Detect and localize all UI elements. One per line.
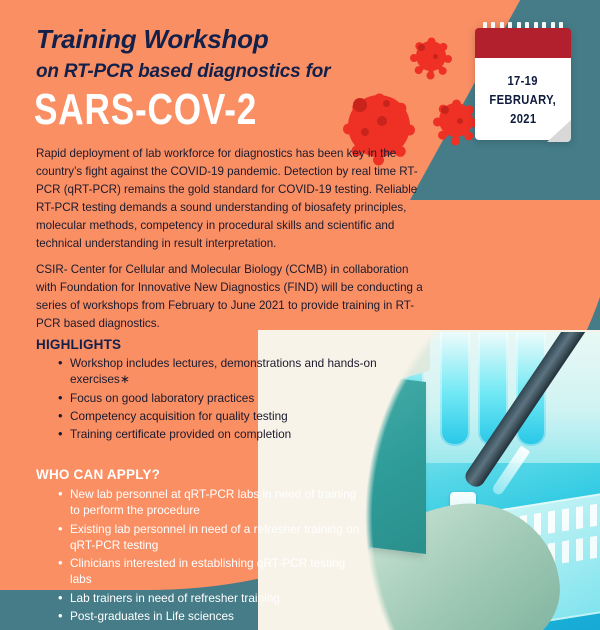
list-item: Competency acquisition for quality testi…: [70, 408, 400, 424]
list-item: Lab trainers in need of refresher traini…: [70, 590, 360, 606]
list-item: Clinicians interested in establishing qR…: [70, 555, 360, 588]
list-item: Post-graduates in Life sciences: [70, 608, 360, 624]
list-item: Workshop includes lectures, demonstratio…: [70, 355, 400, 388]
headline-secondary: on RT-PCR based diagnostics for: [36, 62, 456, 81]
list-item: Training certificate provided on complet…: [70, 426, 400, 442]
poster: SARS-COV-2 RT-qPCR kit: [0, 0, 600, 630]
calendar-body: 17-19 FEBRUARY, 2021: [475, 58, 571, 140]
calendar-dates: 17-19: [508, 73, 538, 88]
list-item: Existing lab personnel in need of a refr…: [70, 521, 360, 554]
calendar-month: FEBRUARY,: [490, 92, 557, 107]
who-can-apply-list: New lab personnel at qRT-PCR labs in nee…: [50, 486, 360, 626]
page-title: SARS-COV-2: [34, 88, 257, 132]
list-item: New lab personnel at qRT-PCR labs in nee…: [70, 486, 360, 519]
headline-primary: Training Workshop: [36, 26, 436, 52]
photo-test-tube: [440, 332, 470, 446]
intro-paragraph: Rapid deployment of lab workforce for di…: [36, 145, 426, 253]
who-can-apply-title: WHO CAN APPLY?: [36, 467, 160, 482]
highlights-title: HIGHLIGHTS: [36, 337, 121, 352]
highlights-list: Workshop includes lectures, demonstratio…: [50, 355, 400, 444]
calendar-header: [475, 28, 571, 58]
organizer-paragraph: CSIR- Center for Cellular and Molecular …: [36, 261, 426, 333]
calendar-icon: 17-19 FEBRUARY, 2021: [475, 22, 571, 142]
list-item: Focus on good laboratory practices: [70, 390, 400, 406]
calendar-year: 2021: [510, 111, 536, 126]
